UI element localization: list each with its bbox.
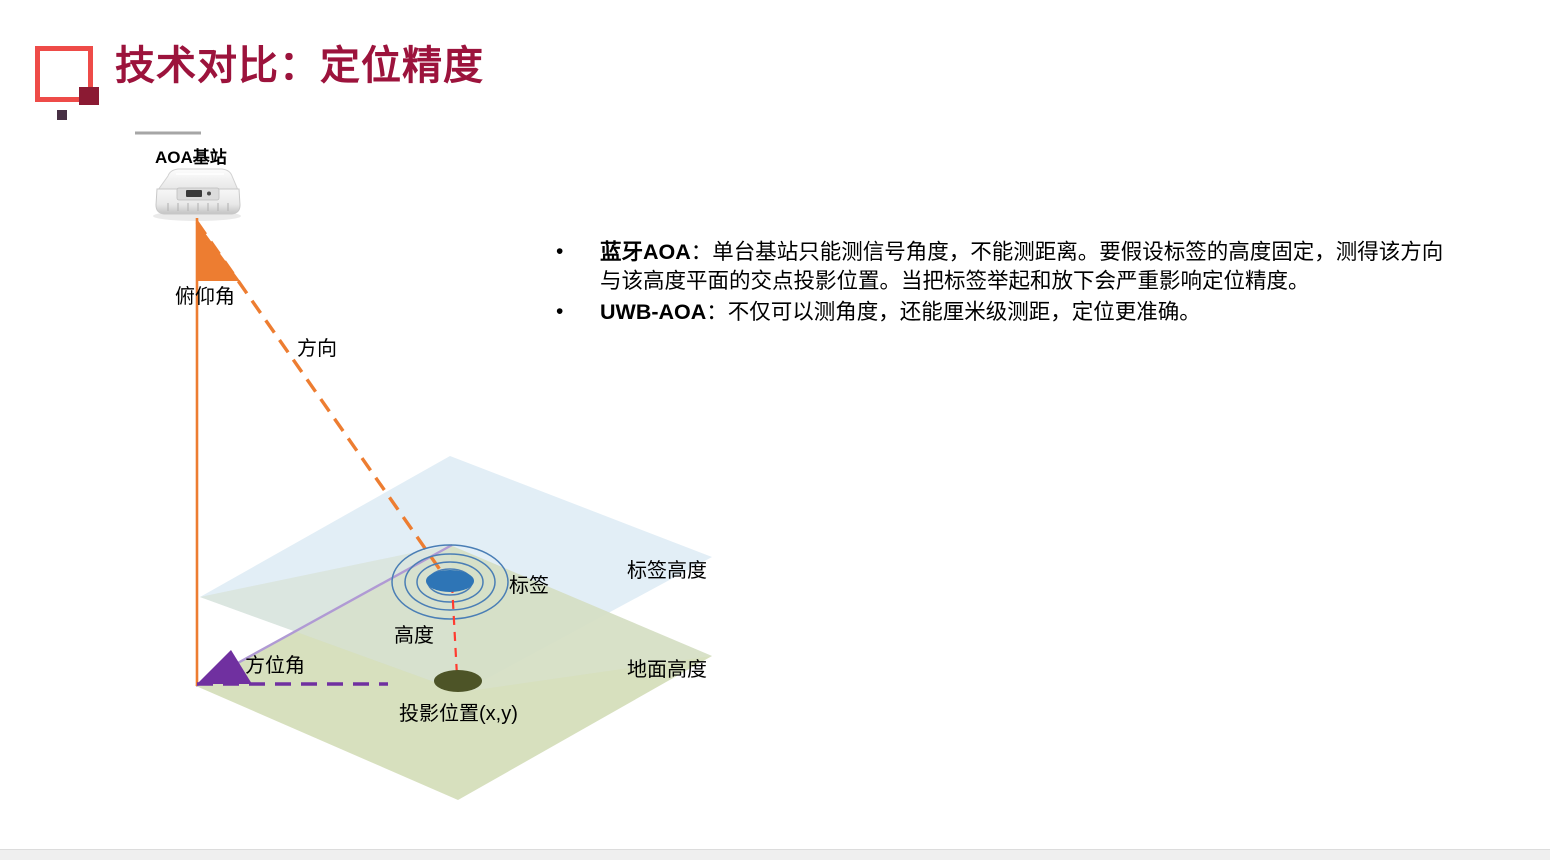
- azimuth-angle-label: 方位角: [245, 654, 305, 677]
- ground-height-plane-label: 地面高度: [627, 658, 707, 681]
- height-label: 高度: [394, 624, 434, 647]
- tag-height-plane-label: 标签高度: [627, 559, 707, 582]
- projection-position-label: 投影位置(x,y): [399, 702, 518, 725]
- plane-edge-line: [196, 545, 452, 686]
- device-port-icon: [186, 190, 202, 197]
- direction-label: 方向: [297, 337, 337, 360]
- bullet-marker-icon: •: [556, 238, 600, 266]
- tag-height-plane: [200, 456, 712, 692]
- bullet-text: ：单台基站只能测信号角度，不能测距离。要假设标签的高度固定，测得该方向与该高度平…: [600, 240, 1443, 293]
- pitch-angle-wedge: [197, 222, 240, 281]
- logo-accent-square-icon: [79, 87, 99, 105]
- plane-overlap-region: [200, 545, 712, 692]
- aoa-base-station-device: [153, 169, 241, 221]
- bullet-marker-icon: •: [556, 298, 600, 326]
- list-item: • UWB-AOA：不仅可以测角度，还能厘米级测距，定位更准确。: [556, 298, 1446, 327]
- azimuth-angle-wedge: [197, 650, 252, 684]
- slide-canvas: 技术对比：定位精度 • 蓝牙AOA：单台基站只能测信号角度，不能测距离。要假设标…: [0, 0, 1550, 860]
- projection-marker: [434, 670, 482, 692]
- tag-marker: [426, 570, 474, 592]
- plane-overlap-region: [200, 545, 462, 692]
- base-station-label: AOA基站: [155, 147, 227, 167]
- aoa-positioning-diagram: AOA基站: [0, 0, 1550, 860]
- footer-strip: [0, 849, 1550, 860]
- bullet-text: ：不仅可以测角度，还能厘米级测距，定位更准确。: [706, 300, 1201, 324]
- bullet-list: • 蓝牙AOA：单台基站只能测信号角度，不能测距离。要假设标签的高度固定，测得该…: [556, 238, 1446, 329]
- ground-height-plane: [196, 545, 712, 800]
- height-line: [452, 584, 457, 676]
- bullet-body: UWB-AOA：不仅可以测角度，还能厘米级测距，定位更准确。: [600, 298, 1446, 327]
- direction-ray: [197, 222, 450, 584]
- tag-signal-rings-icon: [392, 545, 508, 619]
- pitch-angle-label: 俯仰角: [175, 285, 235, 308]
- tag-label: 标签: [509, 574, 549, 597]
- bullet-lead-label: UWB-AOA: [600, 300, 706, 324]
- logo-dot-square-icon: [57, 110, 67, 120]
- list-item: • 蓝牙AOA：单台基站只能测信号角度，不能测距离。要假设标签的高度固定，测得该…: [556, 238, 1446, 296]
- bullet-lead-label: 蓝牙AOA: [600, 240, 691, 264]
- brand-logo: [30, 40, 106, 124]
- page-title: 技术对比：定位精度: [115, 42, 484, 90]
- bullet-body: 蓝牙AOA：单台基站只能测信号角度，不能测距离。要假设标签的高度固定，测得该方向…: [600, 238, 1446, 296]
